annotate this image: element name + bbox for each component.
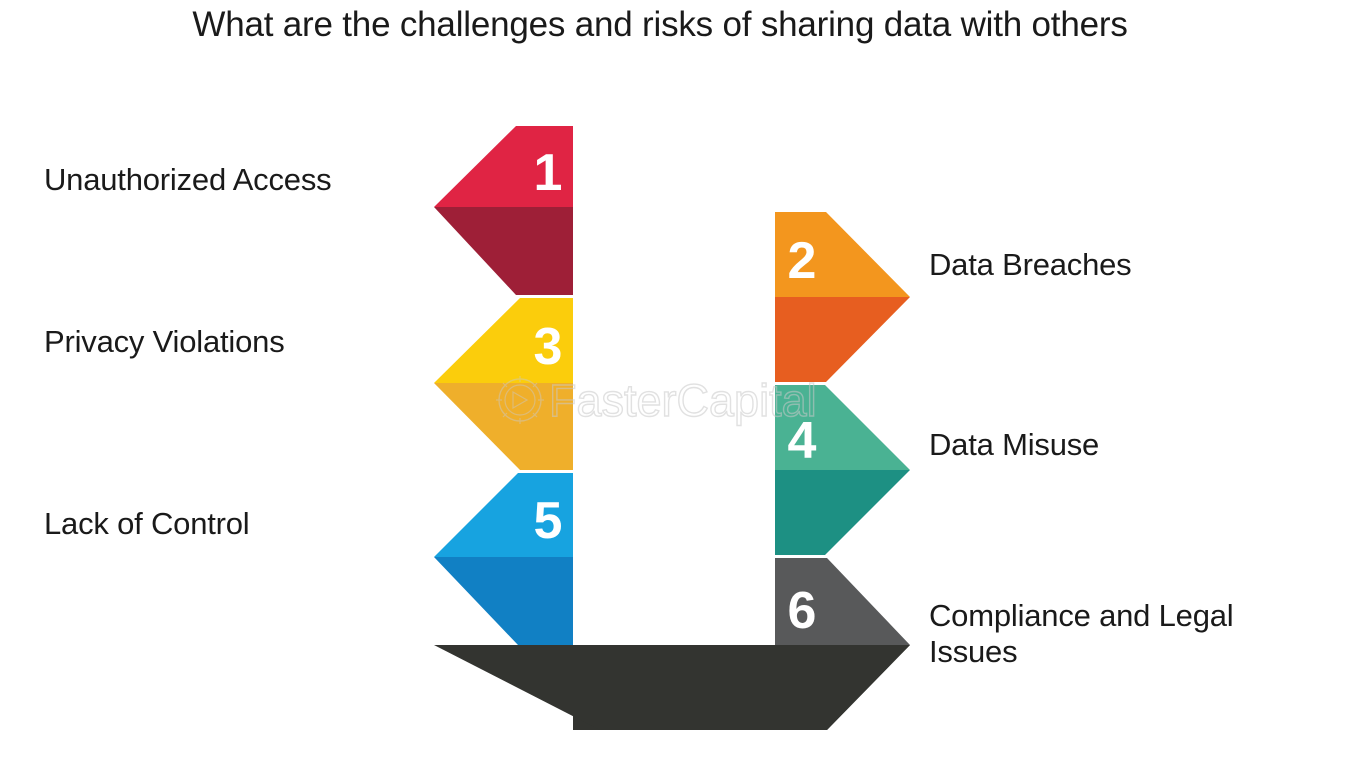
arrow-6-number: 6 (788, 582, 817, 640)
arrow-2-number: 2 (788, 232, 817, 290)
arrow-6-dark-base (434, 645, 910, 730)
label-data-misuse: Data Misuse (929, 427, 1099, 463)
arrow-4-number: 4 (788, 412, 817, 470)
arrow-1-dark (434, 207, 573, 295)
label-unauthorized-access: Unauthorized Access (44, 162, 331, 198)
arrow-3-dark (434, 383, 573, 470)
label-data-breaches: Data Breaches (929, 247, 1131, 283)
label-compliance-line-1: Compliance and Legal (929, 598, 1314, 634)
label-compliance-and-legal-issues: Compliance and Legal Issues (929, 598, 1314, 669)
arrow-5-number: 5 (534, 492, 563, 550)
arrow-item-4[interactable]: 4 (775, 385, 910, 555)
label-compliance-line-2: Issues (929, 634, 1314, 670)
arrow-item-3[interactable]: 3 (434, 298, 573, 470)
arrow-1-number: 1 (534, 144, 563, 202)
label-lack-of-control: Lack of Control (44, 506, 250, 542)
arrow-2-dark (775, 297, 910, 382)
arrow-item-1[interactable]: 1 (434, 126, 573, 295)
arrow-item-2[interactable]: 2 (775, 212, 910, 382)
arrow-item-5[interactable]: 5 (434, 473, 573, 645)
arrow-4-dark (775, 470, 910, 555)
arrow-5-dark (434, 557, 573, 645)
arrow-3-number: 3 (534, 318, 563, 376)
infographic-canvas: What are the challenges and risks of sha… (0, 0, 1350, 759)
label-privacy-violations: Privacy Violations (44, 324, 285, 360)
